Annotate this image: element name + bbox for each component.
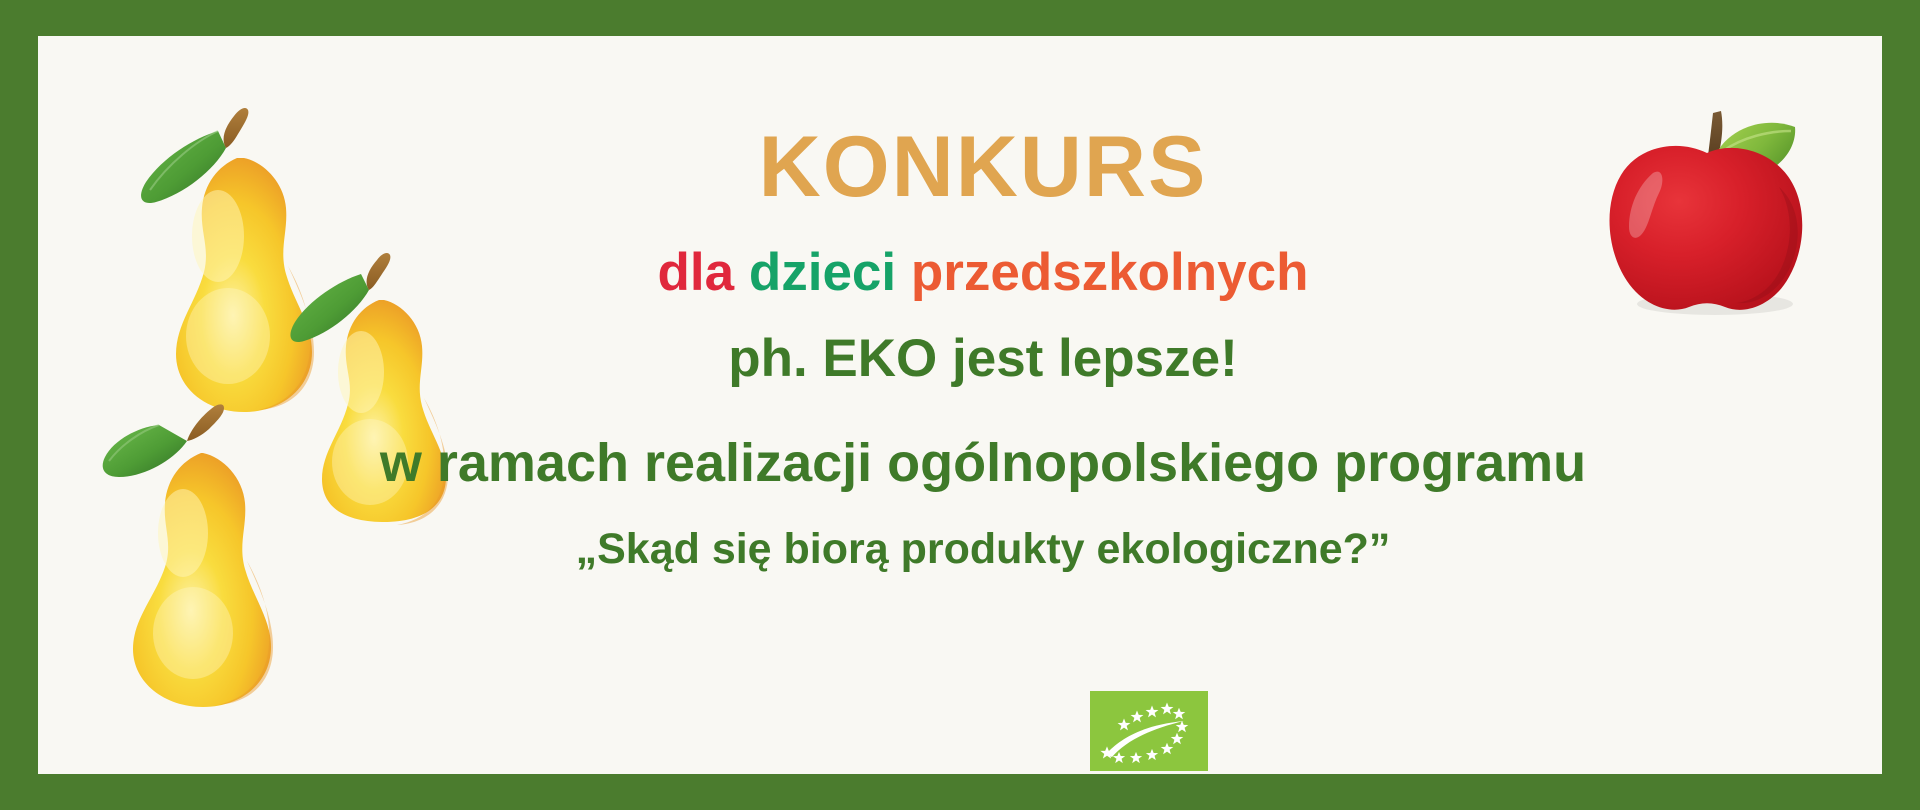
subtitle-word-dzieci: dzieci	[749, 243, 896, 302]
subtitle-word-przedszkolnych: przedszkolnych	[911, 243, 1309, 302]
page-title: KONKURS	[338, 124, 1628, 210]
subtitle-word-dla: dla	[658, 243, 735, 302]
subtitle-line: dla dzieci przedszkolnych	[338, 246, 1628, 299]
programme-line: w ramach realizacji ogólnopolskiego prog…	[258, 436, 1708, 490]
poster-text-block: KONKURS dla dzieci przedszkolnych ph. EK…	[338, 36, 1628, 774]
programme-title: „Skąd się biorą produkty ekologiczne?”	[298, 528, 1668, 571]
theme-line: ph. EKO jest lepsze!	[338, 332, 1628, 385]
eu-organic-logo-icon	[1090, 691, 1208, 771]
poster-root: KONKURS dla dzieci przedszkolnych ph. EK…	[0, 0, 1920, 810]
poster-canvas: KONKURS dla dzieci przedszkolnych ph. EK…	[38, 36, 1882, 774]
